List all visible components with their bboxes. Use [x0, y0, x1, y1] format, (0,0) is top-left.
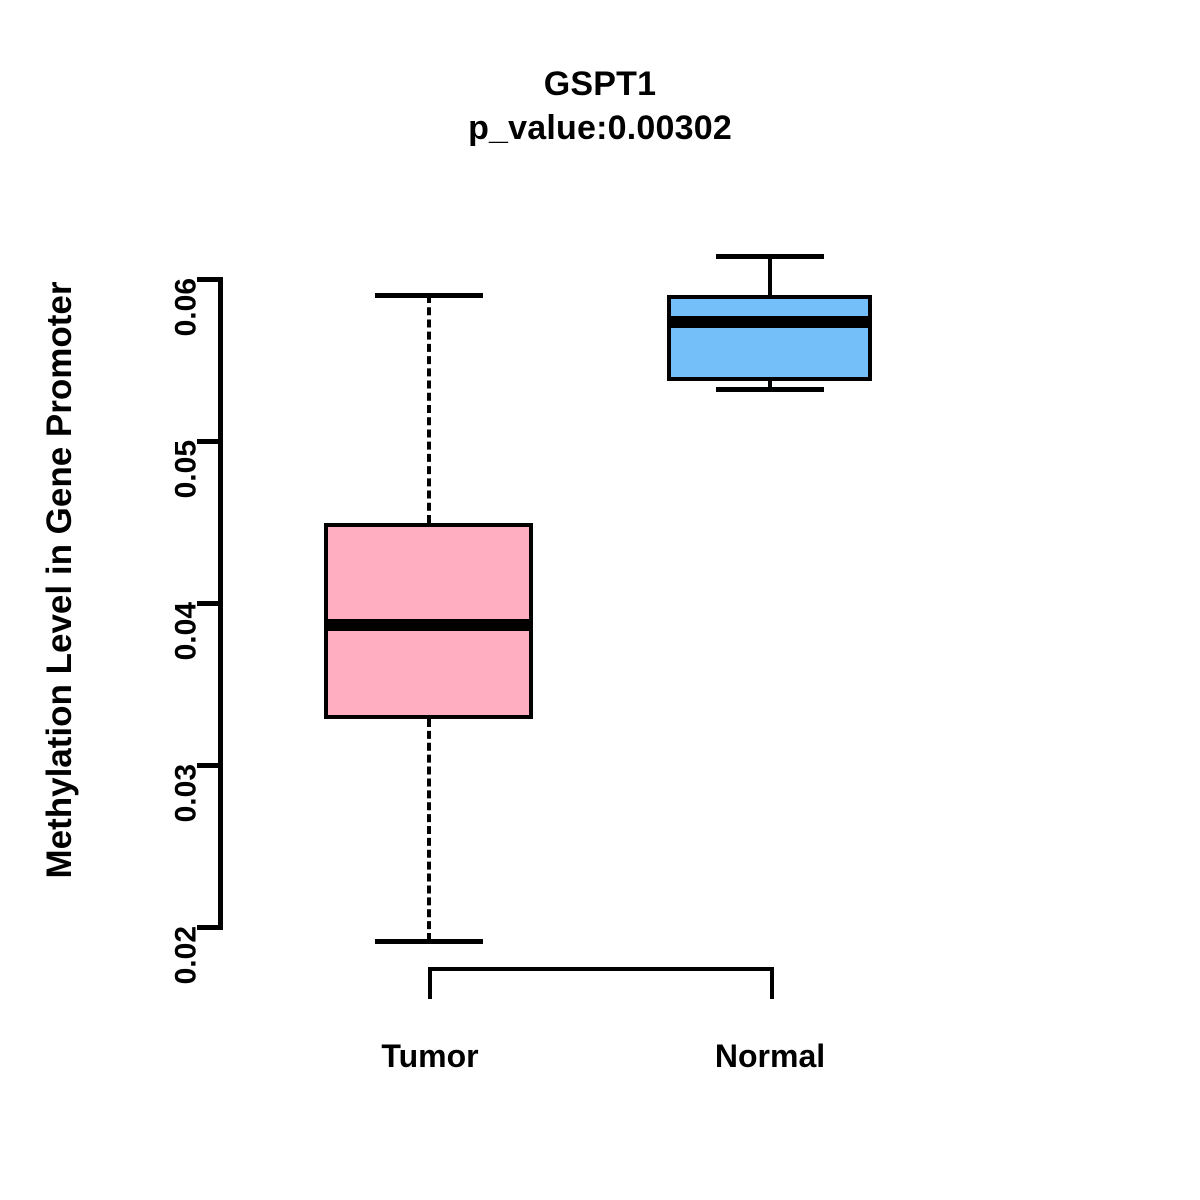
tumor-median-line	[324, 619, 533, 631]
title-block: GSPT1 p_value:0.00302	[0, 62, 1200, 150]
tumor-lower-whisker-cap	[375, 939, 483, 944]
y-axis-title: Methylation Level in Gene Promoter	[40, 180, 80, 980]
tumor-upper-whisker-cap	[375, 293, 483, 298]
y-tick-label-0.06: 0.06	[169, 278, 203, 336]
normal-lower-whisker-cap	[716, 387, 824, 392]
y-tick-label-0.03: 0.03	[169, 764, 203, 822]
chart-title: GSPT1	[0, 62, 1200, 106]
chart-subtitle-pvalue: p_value:0.00302	[0, 106, 1200, 150]
tumor-lower-whisker	[427, 719, 431, 941]
x-axis-bracket-tick-right	[770, 967, 774, 999]
normal-median-line	[667, 316, 872, 328]
x-tick-label-normal: Normal	[670, 1038, 870, 1075]
x-tick-label-tumor: Tumor	[330, 1038, 530, 1075]
boxplot-figure: GSPT1 p_value:0.00302 Methylation Level …	[0, 0, 1200, 1200]
normal-upper-whisker-cap	[716, 254, 824, 259]
y-tick-label-0.04: 0.04	[169, 602, 203, 660]
y-tick-label-0.02: 0.02	[169, 926, 203, 984]
x-axis-bracket-tick-left	[428, 967, 432, 999]
x-axis-bracket	[428, 967, 774, 971]
tumor-upper-whisker	[427, 295, 431, 523]
normal-upper-whisker	[768, 256, 772, 295]
normal-box	[667, 295, 872, 381]
y-tick-label-0.05: 0.05	[169, 440, 203, 498]
